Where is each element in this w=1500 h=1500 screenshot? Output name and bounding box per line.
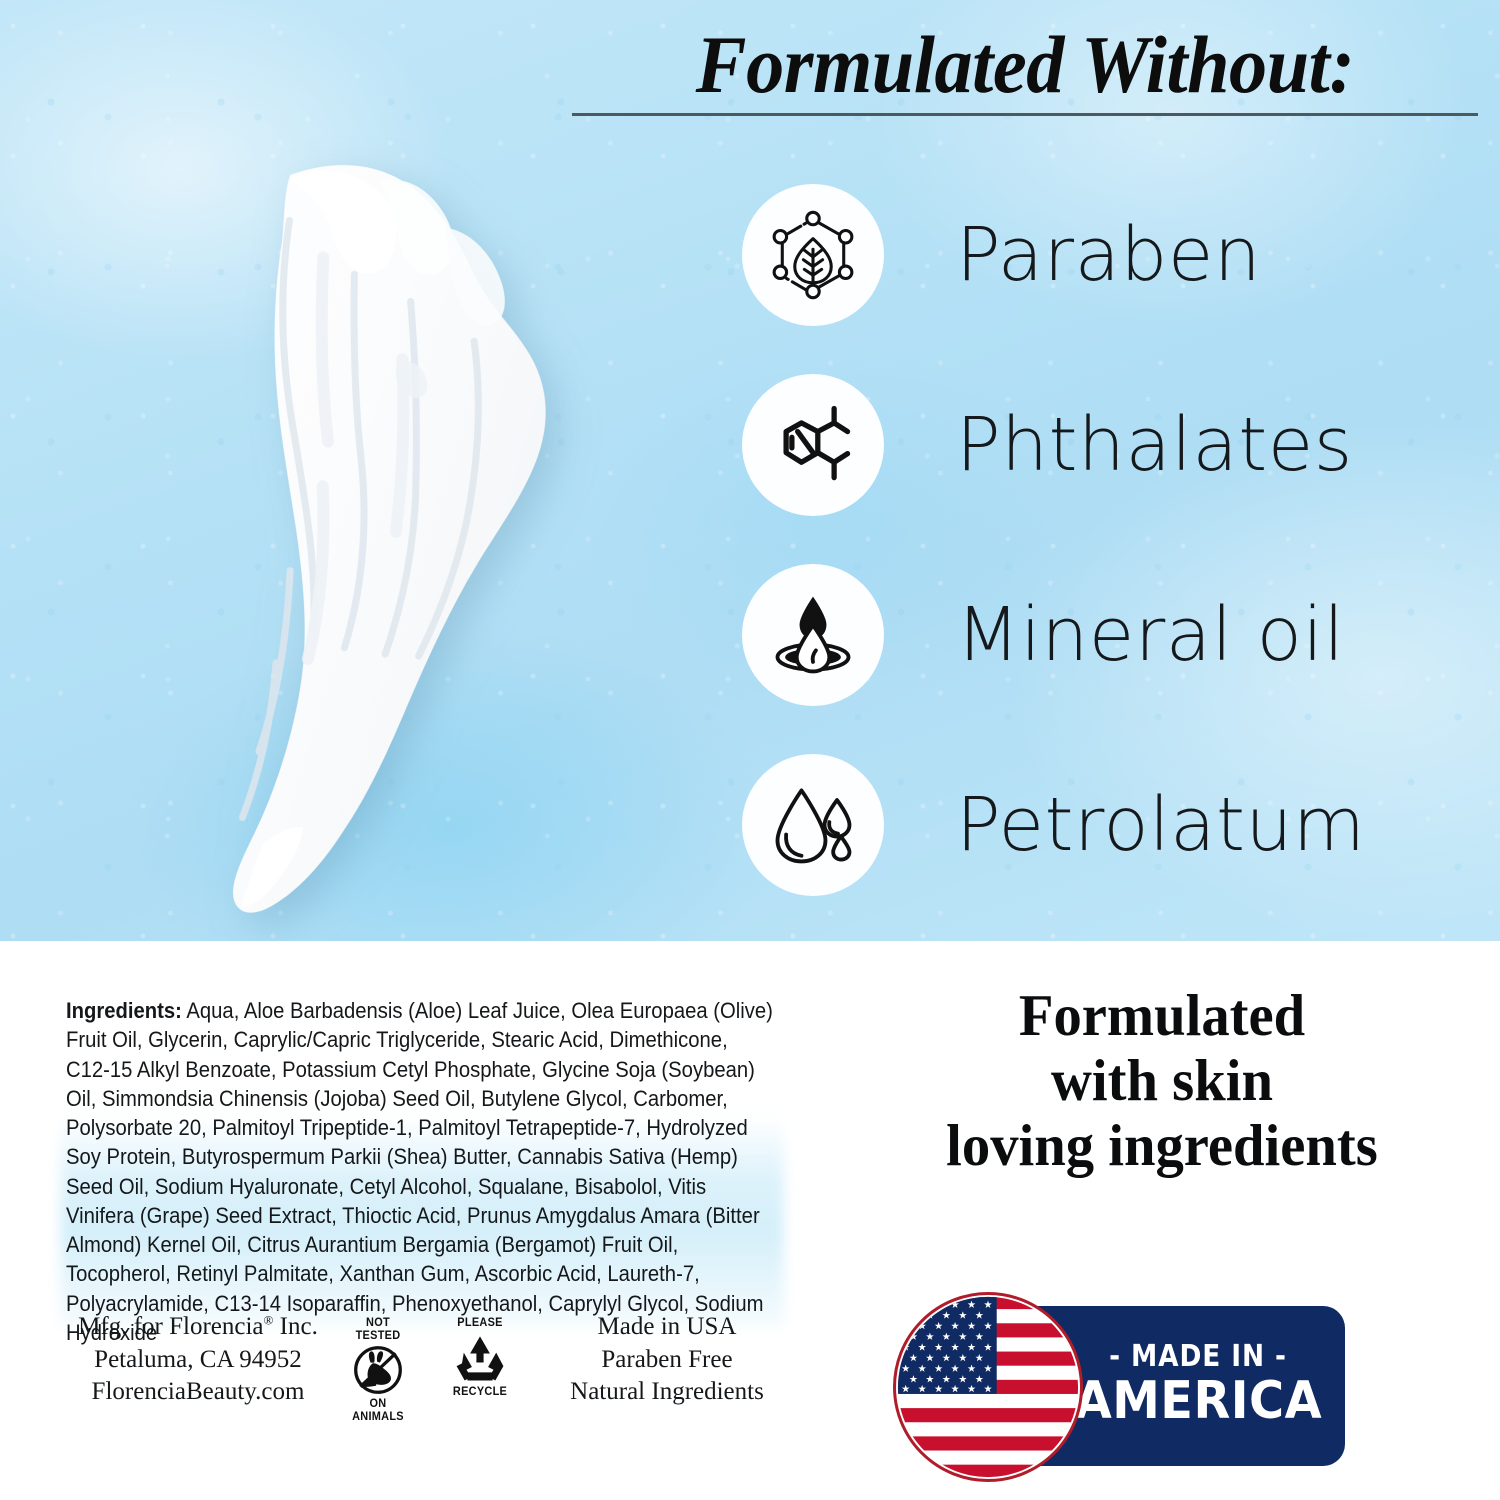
mfg-website[interactable]: FlorenciaBeauty.com [92, 1378, 305, 1405]
title-divider [572, 113, 1478, 116]
free-from-label: Petrolatum [956, 788, 1366, 862]
claim-paraben-free: Paraben Free [601, 1346, 732, 1373]
recycle-top-label: PLEASE [446, 1317, 514, 1330]
mfg-line-1-end: Inc. [273, 1313, 317, 1340]
cream-swatch-image [46, 114, 676, 926]
recycle-icon [453, 1332, 507, 1384]
molecule-leaf-icon [742, 184, 884, 326]
headline-line-1: Formulated [851, 983, 1473, 1048]
made-in-america-badge: - MADE IN - AMERICA [893, 1292, 1345, 1482]
manufacturer-address: Mfg. for Florencia® Inc. Petaluma, CA 94… [62, 1311, 334, 1409]
free-from-item: Petrolatum [742, 730, 1482, 920]
hero-panel: Formulated Without: [0, 0, 1500, 941]
product-claims: Made in USA Paraben Free Natural Ingredi… [542, 1311, 792, 1409]
free-from-label: Paraben [956, 218, 1261, 292]
free-from-label: Phthalates [956, 408, 1353, 482]
badge-top-label: - MADE IN - [1109, 1342, 1287, 1372]
certification-symbols: NOT TESTED ON ANIMALS PLEAS [342, 1317, 516, 1424]
page-title: Formulated Without: [604, 22, 1447, 107]
free-from-label: Mineral oil [956, 598, 1345, 672]
registered-mark: ® [264, 1313, 274, 1328]
oil-droplet-puddle-icon [742, 564, 884, 706]
recycle-symbol: PLEASE RECYCLE [444, 1317, 516, 1398]
mfg-line-2: Petaluma, CA 94952 [94, 1346, 302, 1373]
recycle-bottom-label: RECYCLE [446, 1386, 514, 1399]
free-from-item: Mineral oil [742, 540, 1482, 730]
product-infographic: Formulated Without: [0, 0, 1500, 1500]
usa-flag-icon [893, 1292, 1083, 1482]
benzene-ring-icon [742, 374, 884, 516]
ingredients-text: Ingredients: Aqua, Aloe Barbadensis (Alo… [66, 996, 777, 1347]
hero-title-block: Formulated Without: [572, 22, 1478, 116]
cruelty-free-bottom-label: ON ANIMALS [344, 1398, 412, 1423]
claim-made-in-usa: Made in USA [598, 1313, 737, 1340]
mfg-line-1: Mfg. for Florencia [78, 1313, 263, 1340]
free-from-item: Paraben [742, 160, 1482, 350]
free-from-item: Phthalates [742, 350, 1482, 540]
cream-swatch-figure [86, 150, 686, 910]
headline-line-2: with skin [851, 1048, 1473, 1113]
water-droplets-icon [742, 754, 884, 896]
ingredients-block: Ingredients: Aqua, Aloe Barbadensis (Alo… [66, 996, 778, 1347]
badge-main-label: AMERICA [1074, 1374, 1321, 1429]
manufacturer-row: Mfg. for Florencia® Inc. Petaluma, CA 94… [62, 1311, 792, 1424]
cruelty-free-top-label: NOT TESTED [344, 1317, 412, 1342]
cruelty-free-symbol: NOT TESTED ON ANIMALS [342, 1317, 414, 1424]
free-from-list: Paraben [742, 160, 1482, 920]
headline-line-3: loving ingredients [851, 1113, 1473, 1178]
ingredients-list: Aqua, Aloe Barbadensis (Aloe) Leaf Juice… [66, 998, 773, 1345]
formulated-with-headline: Formulated with skin loving ingredients [851, 983, 1473, 1178]
rabbit-crossed-icon [350, 1344, 406, 1396]
ingredients-label: Ingredients: [66, 998, 182, 1023]
claim-natural-ingredients: Natural Ingredients [570, 1378, 764, 1405]
